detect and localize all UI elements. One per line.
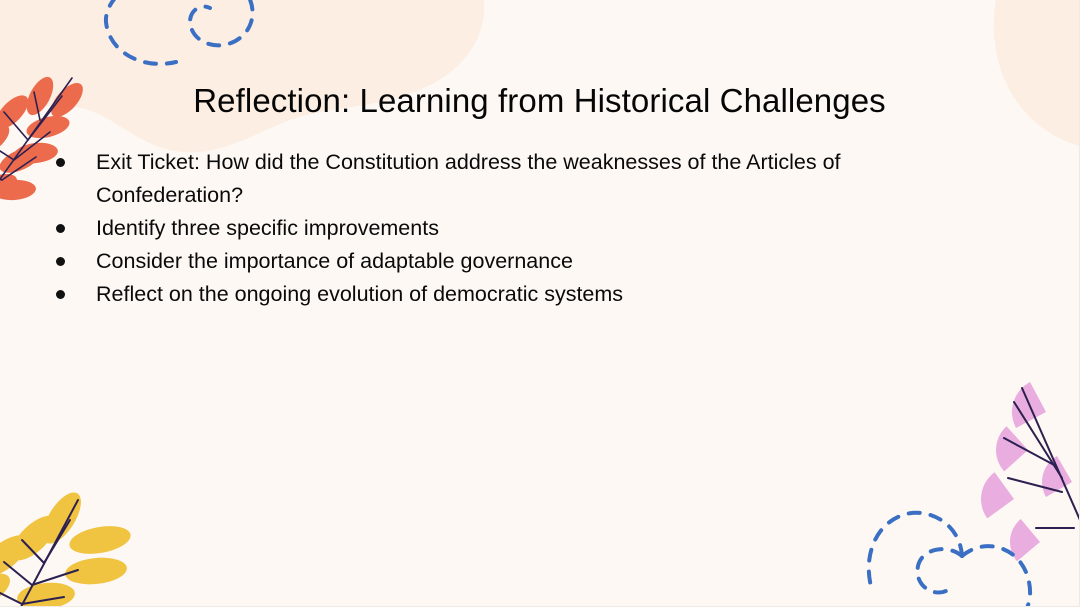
- bullet-list: Exit Ticket: How did the Constitution ad…: [50, 146, 950, 311]
- bullet-dot-icon: [56, 290, 65, 299]
- bullet-dot-icon: [56, 224, 65, 233]
- list-item-text: Identify three specific improvements: [96, 212, 886, 245]
- page-title: Reflection: Learning from Historical Cha…: [0, 82, 1079, 120]
- list-item-text: Exit Ticket: How did the Constitution ad…: [96, 146, 886, 212]
- bullet-dot-icon: [56, 158, 65, 167]
- list-item: Exit Ticket: How did the Constitution ad…: [50, 146, 950, 212]
- bullet-dot-icon: [56, 257, 65, 266]
- list-item-text: Consider the importance of adaptable gov…: [96, 245, 886, 278]
- slide-content: Reflection: Learning from Historical Cha…: [0, 0, 1079, 606]
- slide-canvas: Reflection: Learning from Historical Cha…: [0, 0, 1080, 607]
- list-item-text: Reflect on the ongoing evolution of demo…: [96, 278, 886, 311]
- list-item: Identify three specific improvements: [50, 212, 950, 245]
- list-item: Reflect on the ongoing evolution of demo…: [50, 278, 950, 311]
- list-item: Consider the importance of adaptable gov…: [50, 245, 950, 278]
